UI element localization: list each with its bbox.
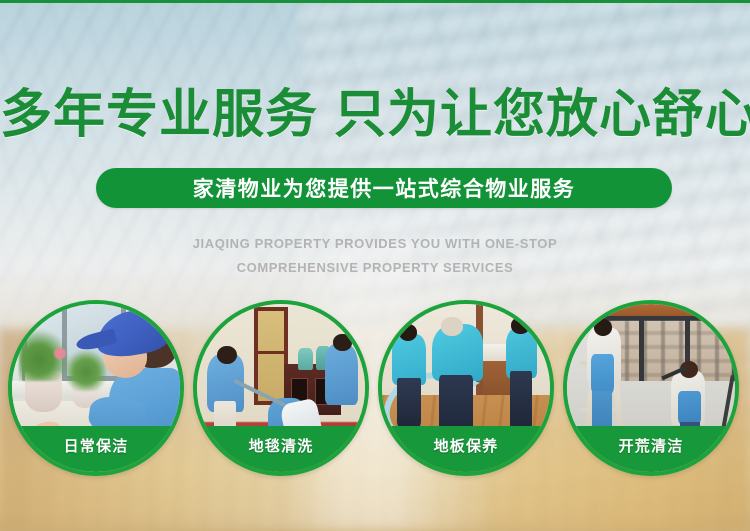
page-title: 多年专业服务只为让您放心舒心: [0, 86, 750, 144]
service-label: 地毯清洗: [249, 435, 314, 456]
service-circle-post-construction-cleaning[interactable]: 开荒清洁: [563, 300, 739, 476]
service-badge: 地毯清洗: [197, 426, 365, 472]
english-subtitle-line-1: JIAQING PROPERTY PROVIDES YOU WITH ONE-S…: [0, 232, 750, 256]
service-label: 开荒清洁: [619, 435, 684, 456]
service-badge: 日常保洁: [12, 426, 180, 472]
service-circle-daily-cleaning[interactable]: 日常保洁: [8, 300, 184, 476]
service-circle-carpet-cleaning[interactable]: 地毯清洗: [193, 300, 369, 476]
service-badge: 地板保养: [382, 426, 550, 472]
tagline-text: 家清物业为您提供一站式综合物业服务: [193, 173, 576, 203]
headline-part-2: 只为让您放心舒心: [334, 86, 750, 144]
english-subtitle: JIAQING PROPERTY PROVIDES YOU WITH ONE-S…: [0, 232, 750, 280]
service-label: 日常保洁: [64, 435, 129, 456]
service-badge: 开荒清洁: [567, 426, 735, 472]
service-circle-row: 日常保洁: [0, 300, 750, 480]
top-green-rule: [0, 0, 750, 3]
english-subtitle-line-2: COMPREHENSIVE PROPERTY SERVICES: [0, 256, 750, 280]
promo-banner: 多年专业服务只为让您放心舒心 家清物业为您提供一站式综合物业服务 JIAQING…: [0, 0, 750, 531]
tagline-pill: 家清物业为您提供一站式综合物业服务: [96, 168, 672, 208]
service-circle-floor-maintenance[interactable]: 地板保养: [378, 300, 554, 476]
service-label: 地板保养: [434, 435, 499, 456]
headline-part-1: 多年专业服务: [0, 86, 318, 144]
